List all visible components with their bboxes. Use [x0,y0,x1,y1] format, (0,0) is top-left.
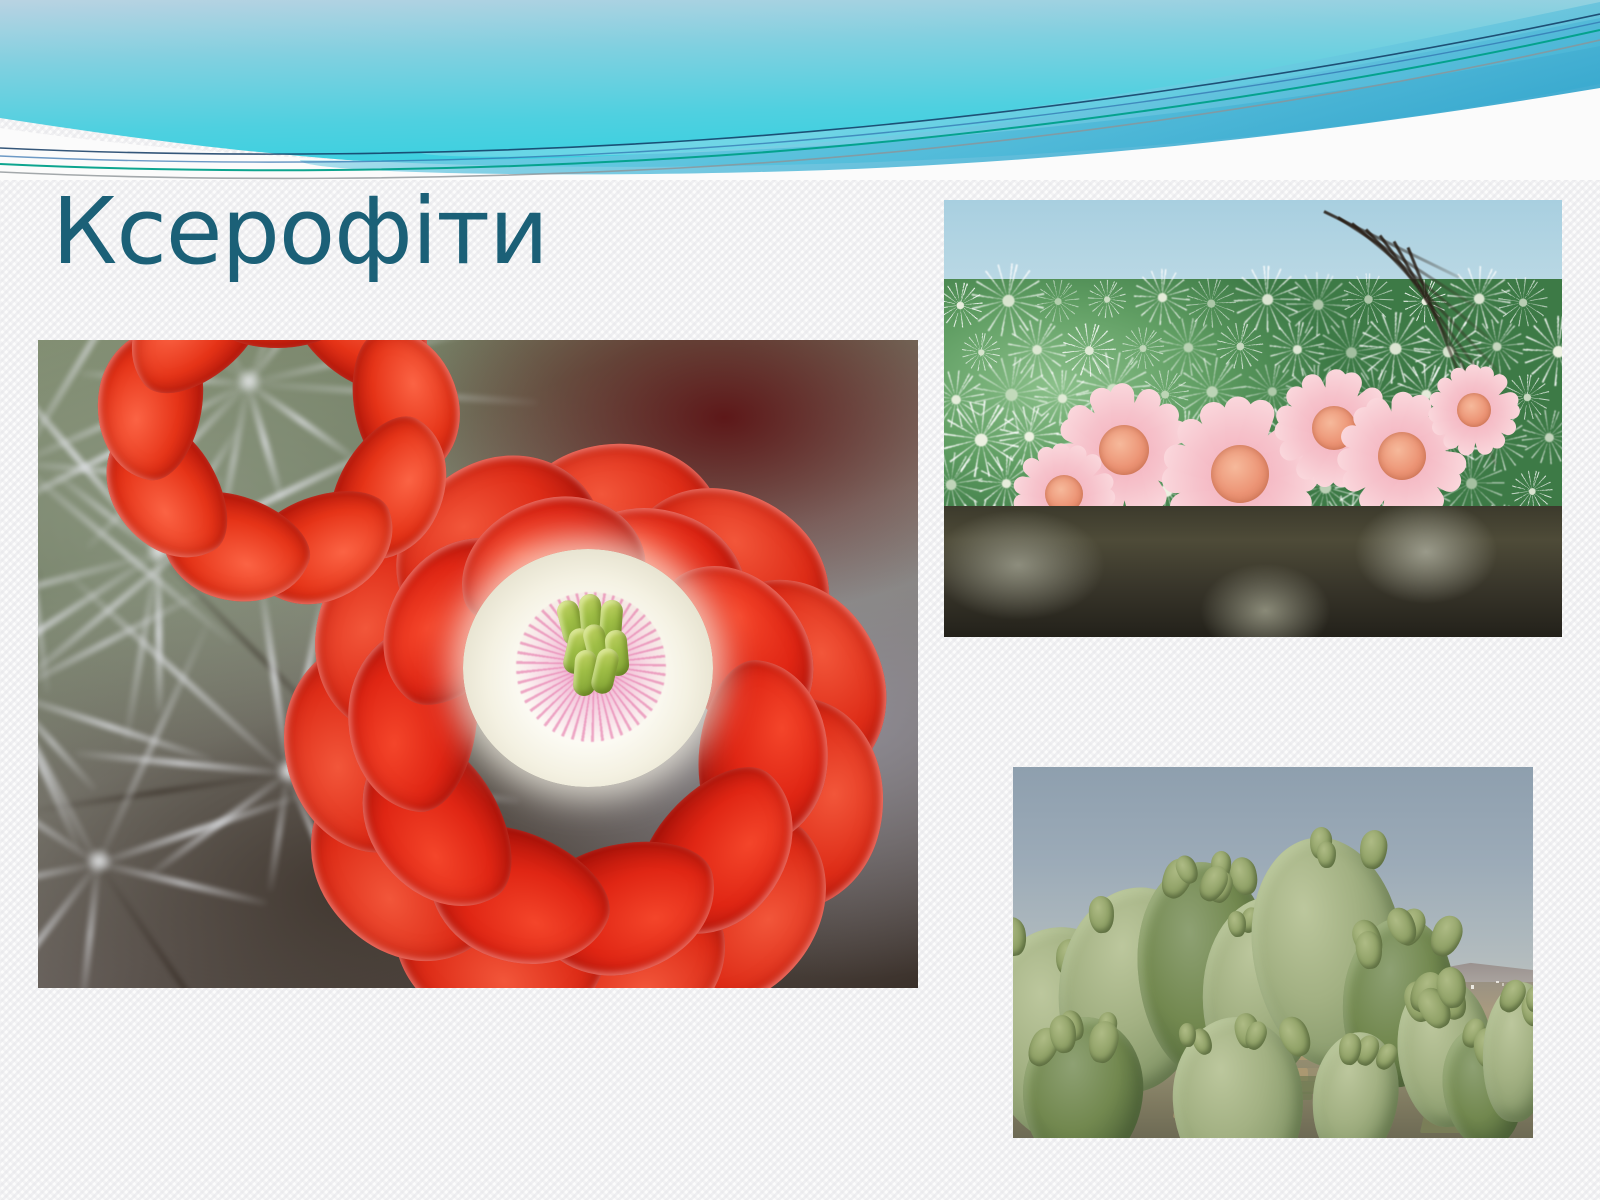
presentation-slide: Ксерофіти [0,0,1600,1200]
red-flower [278,368,898,968]
rocky-ground [944,506,1562,637]
page-title: Ксерофіти [52,184,548,281]
photo-opuntia-landscape [1013,767,1533,1138]
flower-stigma [560,594,640,686]
photo-red-cactus-flower [38,340,918,988]
photo-pink-flowering-cactus [944,200,1562,637]
